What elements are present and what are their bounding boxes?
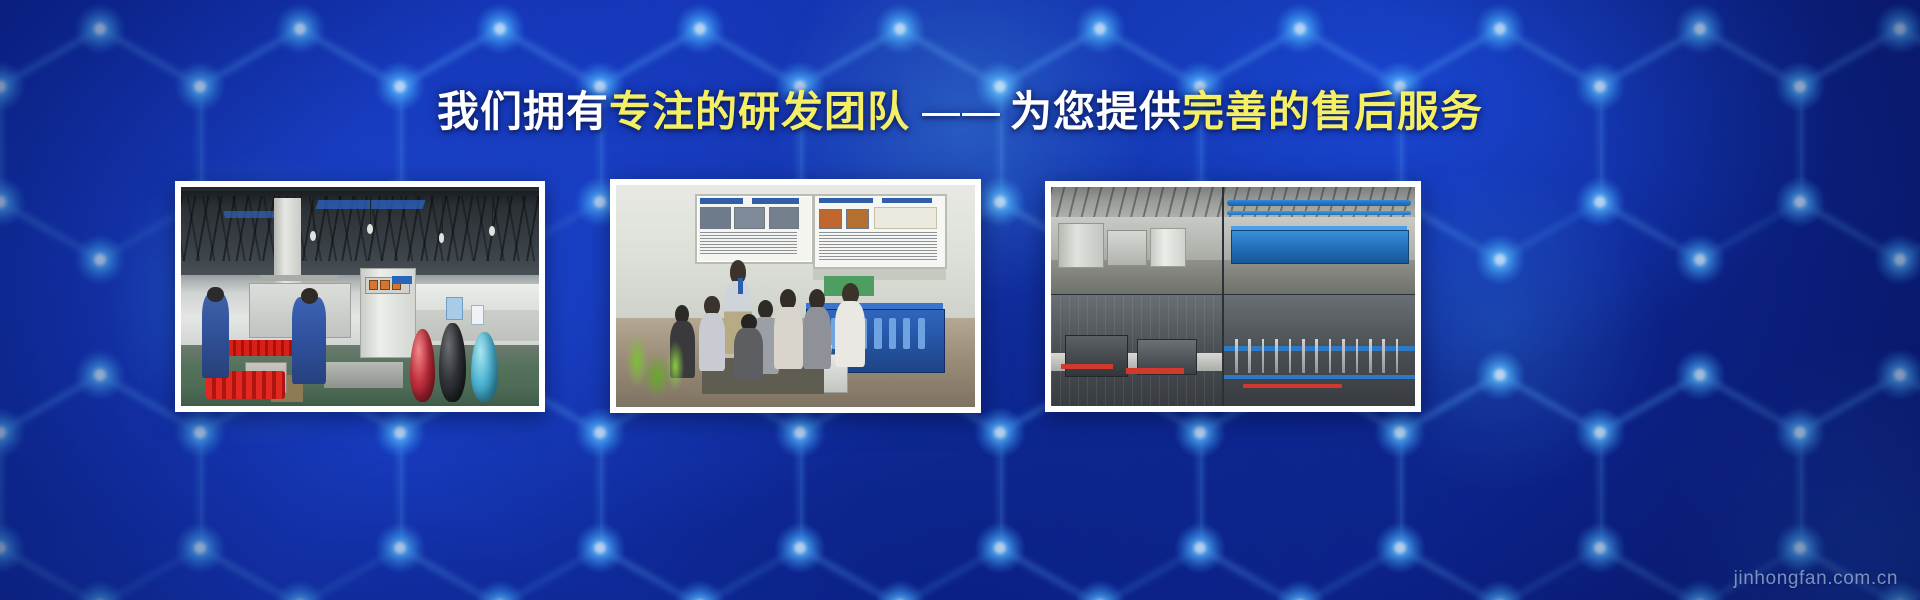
headline-segment-1: 我们拥有 — [437, 83, 609, 141]
gallery-panel-team-meeting[interactable] — [610, 179, 981, 413]
headline-dash: —— — [910, 83, 1010, 141]
equipment-image-bottom-right — [1224, 295, 1415, 406]
photo-team-meeting — [616, 185, 975, 407]
headline-segment-3: 为您提供 — [1010, 83, 1182, 141]
gallery-panel-equipment[interactable] — [1045, 181, 1421, 412]
promo-banner: 我们拥有专注的研发团队——为您提供完善的售后服务 — [0, 0, 1920, 600]
equipment-image-top-left — [1051, 187, 1222, 294]
photo-equipment-collage — [1051, 187, 1415, 406]
photo-production-line — [181, 187, 539, 406]
equipment-image-bottom-left — [1051, 295, 1222, 406]
equipment-image-top-right — [1224, 187, 1415, 294]
headline-segment-4: 完善的售后服务 — [1182, 83, 1483, 141]
headline-segment-2: 专注的研发团队 — [609, 83, 910, 141]
page-title: 我们拥有专注的研发团队——为您提供完善的售后服务 — [0, 80, 1920, 141]
site-watermark: jinhongfan.com.cn — [1734, 568, 1898, 590]
gallery-panel-production-line[interactable] — [175, 181, 545, 412]
